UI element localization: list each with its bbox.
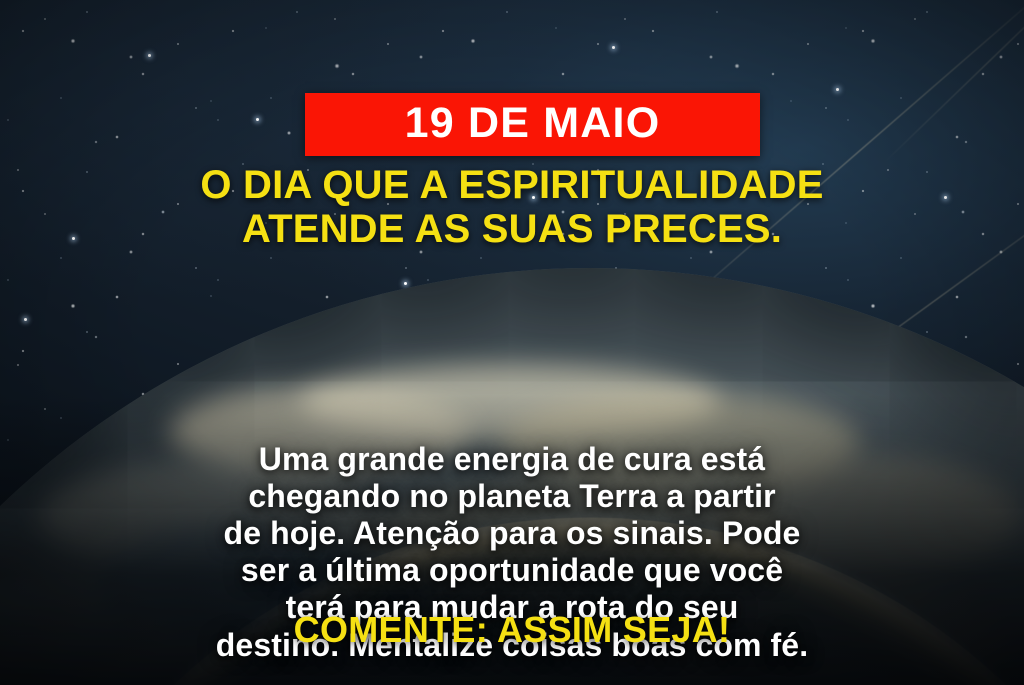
poster-content: 19 DE MAIO O DIA QUE A ESPIRITUALIDADE A…: [0, 0, 1024, 685]
body-line-3: de hoje. Atenção para os sinais. Pode: [0, 515, 1024, 552]
date-banner-text: 19 DE MAIO: [405, 102, 661, 145]
call-to-action-text: COMENTE: ASSIM SEJA!: [0, 612, 1024, 648]
date-banner: 19 DE MAIO: [305, 93, 760, 156]
body-line-4: ser a última oportunidade que você: [0, 552, 1024, 589]
body-line-2: chegando no planeta Terra a partir: [0, 478, 1024, 515]
headline-line-2: ATENDE AS SUAS PRECES.: [0, 207, 1024, 251]
headline-line-1: O DIA QUE A ESPIRITUALIDADE: [0, 163, 1024, 207]
body-line-1: Uma grande energia de cura está: [0, 441, 1024, 478]
headline: O DIA QUE A ESPIRITUALIDADE ATENDE AS SU…: [0, 163, 1024, 251]
poster-canvas: 19 DE MAIO O DIA QUE A ESPIRITUALIDADE A…: [0, 0, 1024, 685]
